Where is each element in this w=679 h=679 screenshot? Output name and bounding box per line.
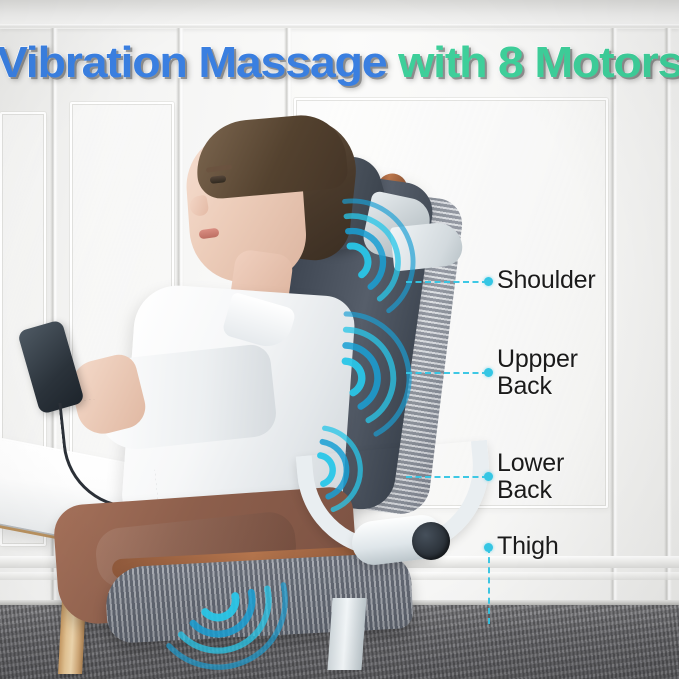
leader-line-upper-back bbox=[406, 372, 488, 374]
callout-label-upper-back: Uppper Back bbox=[497, 346, 578, 399]
title-part-blue: Vibration Massage bbox=[0, 38, 386, 87]
callout-dot-lower-back bbox=[484, 472, 493, 481]
callout-layer: ShoulderUppper BackLower BackThigh bbox=[0, 0, 679, 679]
leader-line-thigh bbox=[488, 547, 490, 624]
callout-dot-upper-back bbox=[484, 368, 493, 377]
leader-line-shoulder bbox=[406, 281, 488, 283]
callout-dot-thigh bbox=[484, 543, 493, 552]
title-part-green: with 8 Motors bbox=[386, 38, 679, 87]
leader-line-lower-back bbox=[406, 476, 488, 478]
callout-label-thigh: Thigh bbox=[497, 533, 559, 560]
callout-dot-shoulder bbox=[484, 277, 493, 286]
callout-label-shoulder: Shoulder bbox=[497, 267, 595, 294]
page-title: Vibration Massage with 8 Motors bbox=[0, 38, 679, 88]
product-image: ShoulderUppper BackLower BackThigh Vibra… bbox=[0, 0, 679, 679]
callout-label-lower-back: Lower Back bbox=[497, 450, 564, 503]
